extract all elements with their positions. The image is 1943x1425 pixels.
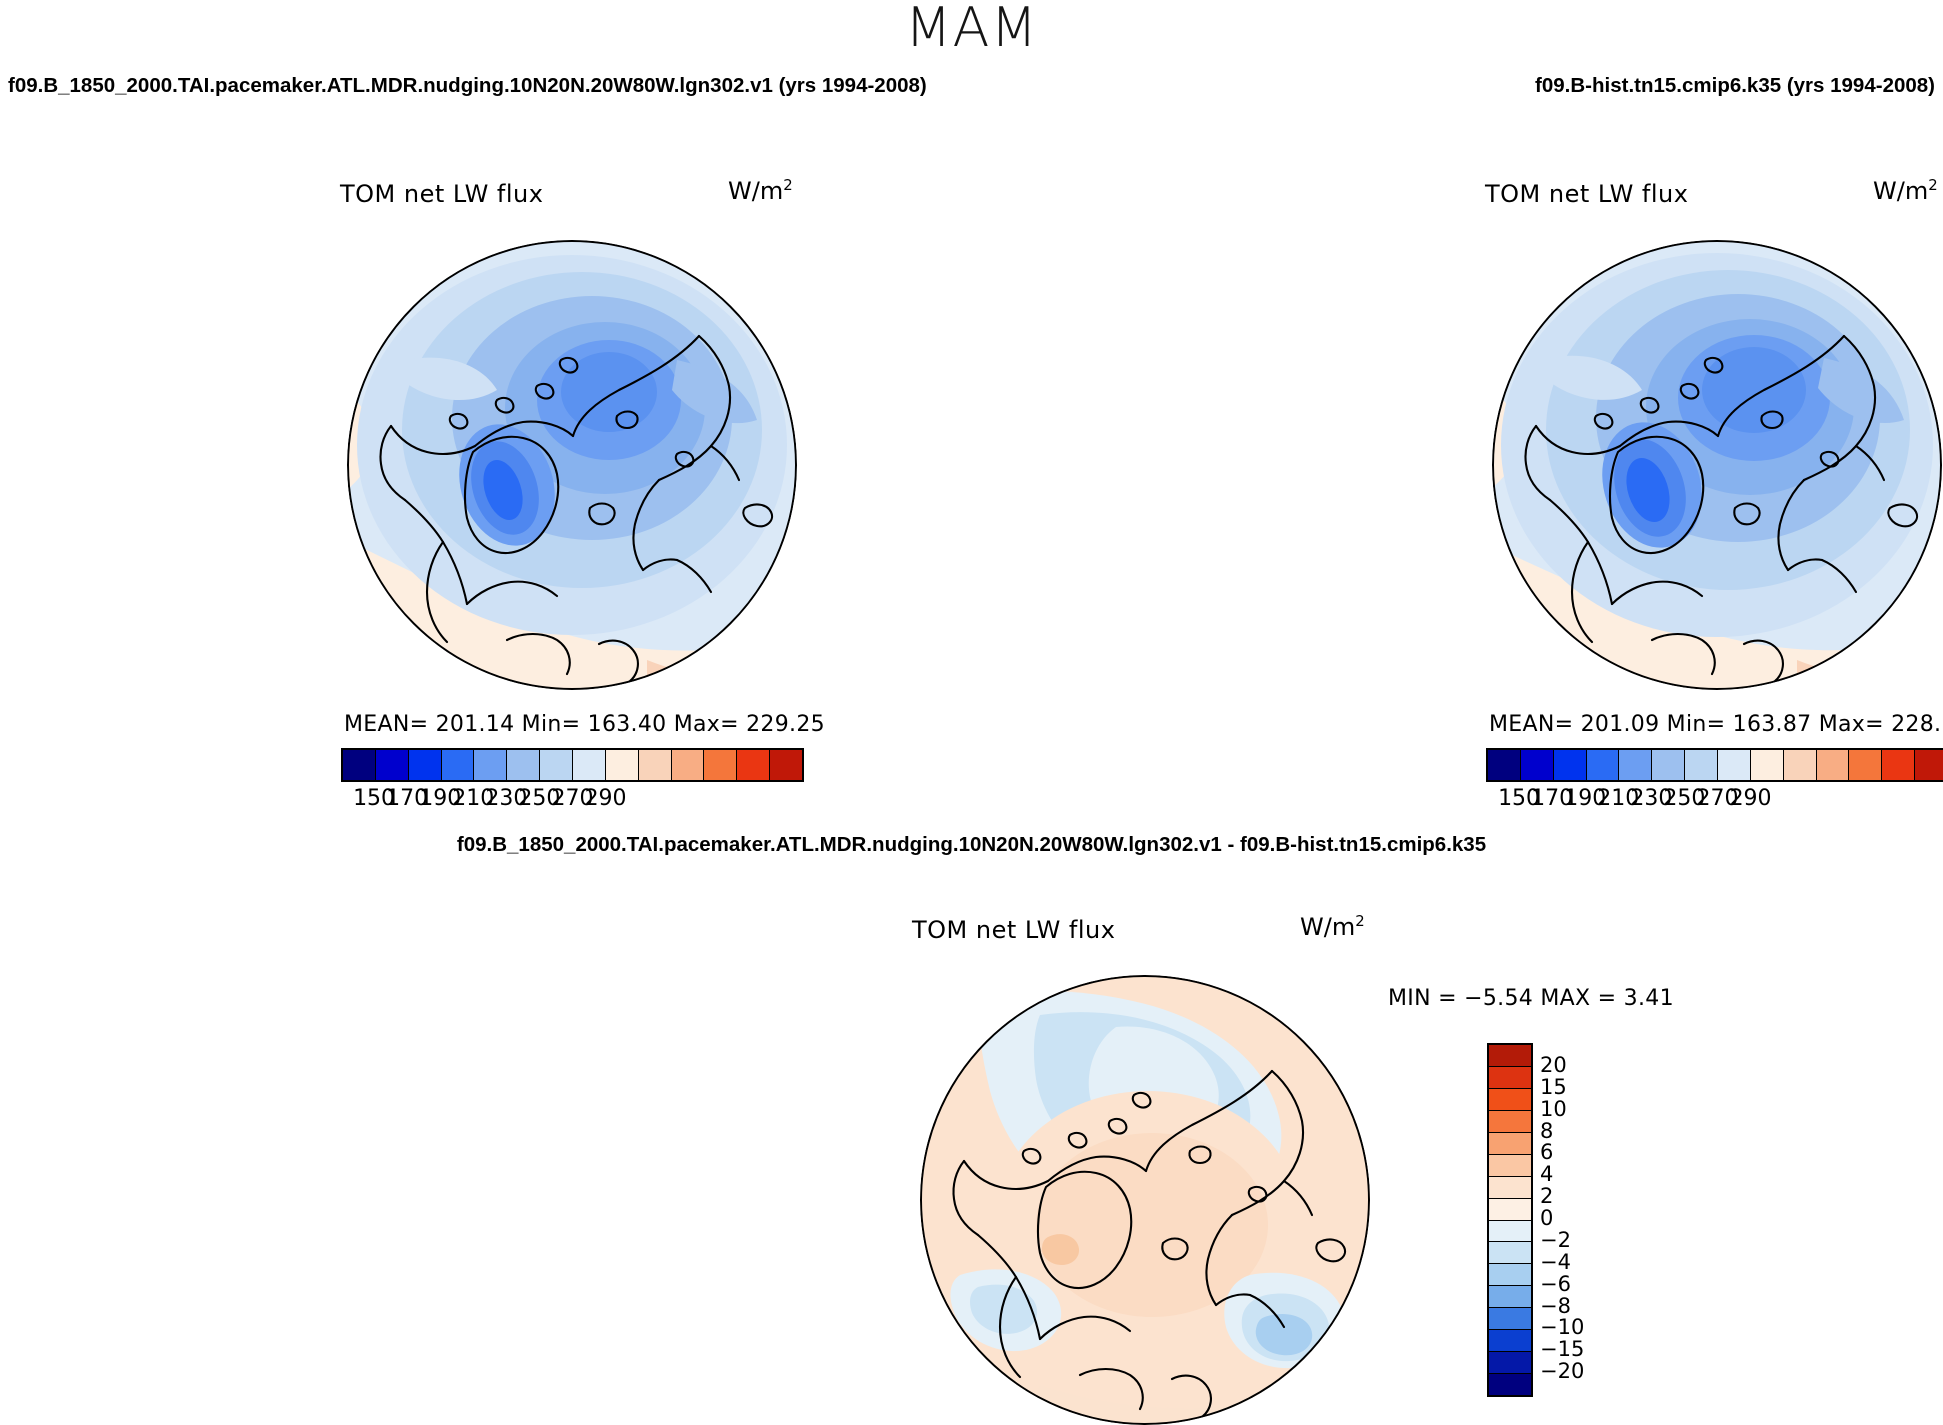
colorbar-tick-label: −10 <box>1540 1315 1584 1339</box>
colorbar-right-ticks: 150170190210230250270290 <box>1486 786 1943 816</box>
colorbar-cell <box>1489 1067 1531 1089</box>
colorbar-difference-ticks: 20151086420−2−4−6−8−10−15−20 <box>1540 1043 1630 1393</box>
colorbar-cell <box>1489 1177 1531 1199</box>
colorbar-cell <box>1489 1374 1531 1395</box>
colorbar-left[interactable] <box>341 748 804 782</box>
colorbar-cell <box>1489 1352 1531 1374</box>
colorbar-tick-label: 10 <box>1540 1097 1567 1121</box>
colorbar-cell <box>1489 1199 1531 1221</box>
right-variable-label: TOM net LW flux <box>1485 180 1688 208</box>
colorbar-cell <box>1521 750 1554 780</box>
colorbar-cell <box>737 750 770 780</box>
colorbar-cell <box>606 750 639 780</box>
difference-stats: MIN = −5.54 MAX = 3.41 <box>1388 986 1674 1011</box>
colorbar-cell <box>1489 1111 1531 1133</box>
colorbar-cell <box>1489 1286 1531 1308</box>
left-variable-label: TOM net LW flux <box>340 180 543 208</box>
colorbar-tick-label: −2 <box>1540 1228 1571 1252</box>
colorbar-cell <box>1817 750 1850 780</box>
colorbar-tick-label: 8 <box>1540 1119 1553 1143</box>
colorbar-tick-label: −8 <box>1540 1294 1571 1318</box>
colorbar-tick-label: 20 <box>1540 1053 1567 1077</box>
colorbar-tick-label: 6 <box>1540 1140 1553 1164</box>
case-header-left: f09.B_1850_2000.TAI.pacemaker.ATL.MDR.nu… <box>8 74 927 98</box>
map-difference-graphic <box>920 975 1370 1425</box>
colorbar-cell <box>1489 1155 1531 1177</box>
map-difference[interactable] <box>920 975 1370 1425</box>
colorbar-tick-label: −4 <box>1540 1250 1571 1274</box>
diff-variable-label: TOM net LW flux <box>912 916 1115 944</box>
left-units-label: W/m2 <box>728 176 793 205</box>
left-stats: MEAN= 201.14 Min= 163.40 Max= 229.25 <box>344 712 825 737</box>
colorbar-difference[interactable] <box>1487 1043 1533 1397</box>
map-right[interactable] <box>1492 240 1942 690</box>
colorbar-cell <box>376 750 409 780</box>
map-left-graphic <box>347 240 797 690</box>
colorbar-cell <box>1587 750 1620 780</box>
colorbar-cell <box>1882 750 1915 780</box>
colorbar-cell <box>474 750 507 780</box>
colorbar-cell <box>1784 750 1817 780</box>
difference-header: f09.B_1850_2000.TAI.pacemaker.ATL.MDR.nu… <box>0 833 1943 857</box>
colorbar-cell <box>540 750 573 780</box>
colorbar-cell <box>573 750 606 780</box>
colorbar-cell <box>409 750 442 780</box>
map-right-graphic <box>1492 240 1942 690</box>
colorbar-tick-label: 290 <box>585 786 627 811</box>
colorbar-cell <box>1554 750 1587 780</box>
colorbar-cell <box>507 750 540 780</box>
colorbar-cell <box>1652 750 1685 780</box>
colorbar-left-ticks: 150170190210230250270290 <box>341 786 804 816</box>
diff-units-label: W/m2 <box>1300 912 1365 941</box>
colorbar-tick-label: 290 <box>1730 786 1772 811</box>
page-title: MAM <box>0 0 1943 59</box>
colorbar-tick-label: −6 <box>1540 1272 1571 1296</box>
colorbar-cell <box>1489 1330 1531 1352</box>
colorbar-cell <box>1489 1221 1531 1243</box>
colorbar-cell <box>1751 750 1784 780</box>
colorbar-cell <box>1619 750 1652 780</box>
colorbar-tick-label: −15 <box>1540 1337 1584 1361</box>
right-units-label: W/m2 <box>1873 176 1938 205</box>
colorbar-cell <box>1489 1308 1531 1330</box>
colorbar-tick-label: 2 <box>1540 1184 1553 1208</box>
right-stats: MEAN= 201.09 Min= 163.87 Max= 228.52 <box>1489 712 1943 737</box>
colorbar-cell <box>1489 1133 1531 1155</box>
colorbar-tick-label: 4 <box>1540 1162 1553 1186</box>
colorbar-cell <box>770 750 802 780</box>
colorbar-cell <box>343 750 376 780</box>
colorbar-cell <box>704 750 737 780</box>
colorbar-cell <box>442 750 475 780</box>
colorbar-cell <box>1489 1045 1531 1067</box>
colorbar-tick-label: 15 <box>1540 1075 1567 1099</box>
colorbar-cell <box>672 750 705 780</box>
colorbar-cell <box>1849 750 1882 780</box>
colorbar-cell <box>1489 1089 1531 1111</box>
colorbar-cell <box>1489 1264 1531 1286</box>
colorbar-cell <box>1685 750 1718 780</box>
colorbar-cell <box>1915 750 1943 780</box>
colorbar-cell <box>1489 1242 1531 1264</box>
colorbar-cell <box>1488 750 1521 780</box>
map-left[interactable] <box>347 240 797 690</box>
case-header-right: f09.B-hist.tn15.cmip6.k35 (yrs 1994-2008… <box>1535 74 1935 98</box>
colorbar-right[interactable] <box>1486 748 1943 782</box>
colorbar-cell <box>1718 750 1751 780</box>
colorbar-tick-label: 0 <box>1540 1206 1553 1230</box>
colorbar-tick-label: −20 <box>1540 1359 1584 1383</box>
colorbar-cell <box>639 750 672 780</box>
